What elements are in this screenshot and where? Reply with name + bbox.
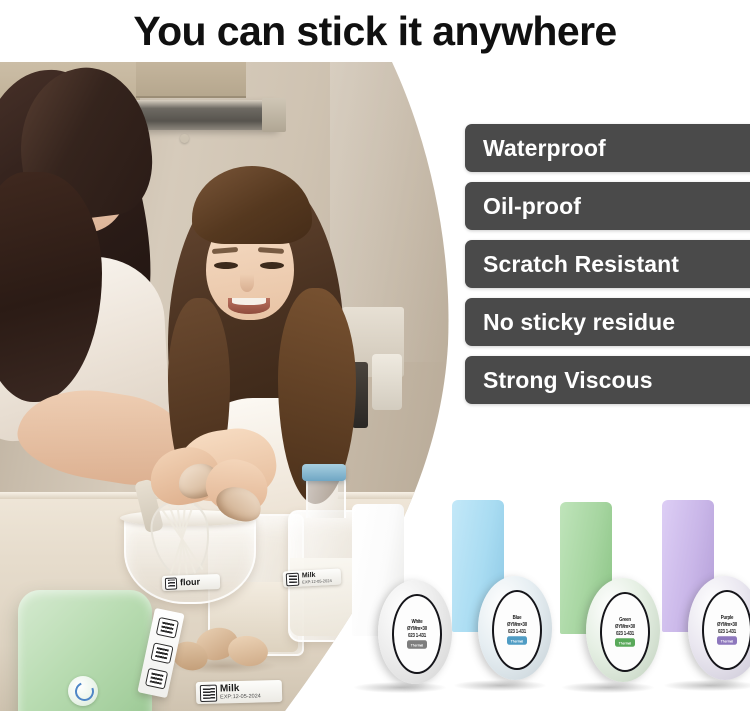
feature-label: Oil-proof xyxy=(483,193,581,220)
label-milk-on-counter: Milk EXP:12-05-2024 xyxy=(196,680,283,704)
feature-badge-scratch-resistant[interactable]: Scratch Resistant xyxy=(465,240,750,288)
girl-teeth xyxy=(232,298,266,305)
page-title: You can stick it anywhere xyxy=(0,0,750,62)
strip-icon-2 xyxy=(150,642,173,664)
strip-icon-3 xyxy=(145,668,168,690)
roll-core-line-3: 023 1-431 xyxy=(408,633,426,639)
roll-core-line-3: 023 1-431 xyxy=(616,631,634,637)
girl-eye-right xyxy=(260,262,284,269)
milk-counter-label-expiry: EXP:12-05-2024 xyxy=(220,694,261,701)
range-hood xyxy=(128,100,278,130)
feature-list: Waterproof Oil-proof Scratch Resistant N… xyxy=(465,124,750,414)
milk-bottle-label-expiry: EXP:12-05-2024 xyxy=(302,579,332,585)
roll-core-label: White ØYMm×30 023 1-431 Thermal xyxy=(392,594,442,674)
girl-nose xyxy=(240,274,254,292)
roll-shadow xyxy=(354,682,446,693)
roll-core-line-2: ØYMm×30 xyxy=(615,624,635,630)
roll-core-line-3: 023 1-431 xyxy=(718,629,736,635)
label-milk-on-bottle: Milk EXP:12-05-2024 xyxy=(283,568,342,587)
roll-core-label: Green ØYMm×30 023 1-431 Thermal xyxy=(600,592,650,672)
roll-core-chip: Thermal xyxy=(507,636,527,644)
roll-shadow xyxy=(562,682,654,693)
roll-core-label: Blue ØYMm×30 023 1-431 Thermal xyxy=(492,590,542,670)
roll-core-line-2: ØYMm×30 xyxy=(407,626,427,632)
background-container xyxy=(372,354,402,410)
roll-shadow xyxy=(664,680,750,691)
range-hood-end xyxy=(262,98,286,132)
label-flour: flour xyxy=(162,574,220,591)
feature-label: Strong Viscous xyxy=(483,367,653,394)
upper-cabinet-middle xyxy=(136,62,246,98)
feature-badge-no-sticky-residue[interactable]: No sticky residue xyxy=(465,298,750,346)
flour-label-icon xyxy=(165,577,177,589)
roll-core-chip: Thermal xyxy=(717,636,737,644)
headline-text: You can stick it anywhere xyxy=(133,8,616,55)
roll-core-line-2: ØYMm×30 xyxy=(717,622,737,628)
milk-counter-label-icon xyxy=(200,684,217,701)
milk-counter-label-name: Milk xyxy=(220,683,261,694)
milk-bottle-cap xyxy=(302,464,346,481)
girl-eye-left xyxy=(214,262,238,269)
feature-badge-oil-proof[interactable]: Oil-proof xyxy=(465,182,750,230)
milk-bottle-neck xyxy=(306,476,346,518)
roll-core-chip: Thermal xyxy=(407,640,427,648)
feature-badge-waterproof[interactable]: Waterproof xyxy=(465,124,750,172)
roll-core-label: Purple ØYMm×30 023 1-431 Thermal xyxy=(702,590,750,670)
roll-shadow xyxy=(454,680,546,691)
feature-label: Waterproof xyxy=(483,135,606,162)
roll-core-line-2: ØYMm×30 xyxy=(507,622,527,628)
printer-power-button[interactable] xyxy=(68,676,98,706)
hood-light-knob xyxy=(180,134,189,143)
feature-badge-strong-viscous[interactable]: Strong Viscous xyxy=(465,356,750,404)
milk-bottle-label-icon xyxy=(286,572,300,586)
flour-label-name: flour xyxy=(180,578,200,588)
feature-label: Scratch Resistant xyxy=(483,251,679,278)
roll-core-chip: Thermal xyxy=(615,638,635,646)
roll-core-line-3: 023 1-431 xyxy=(508,629,526,635)
feature-label: No sticky residue xyxy=(483,309,675,336)
promo-banner: You can stick it anywhere xyxy=(0,0,750,711)
strip-icon-1 xyxy=(156,617,179,639)
